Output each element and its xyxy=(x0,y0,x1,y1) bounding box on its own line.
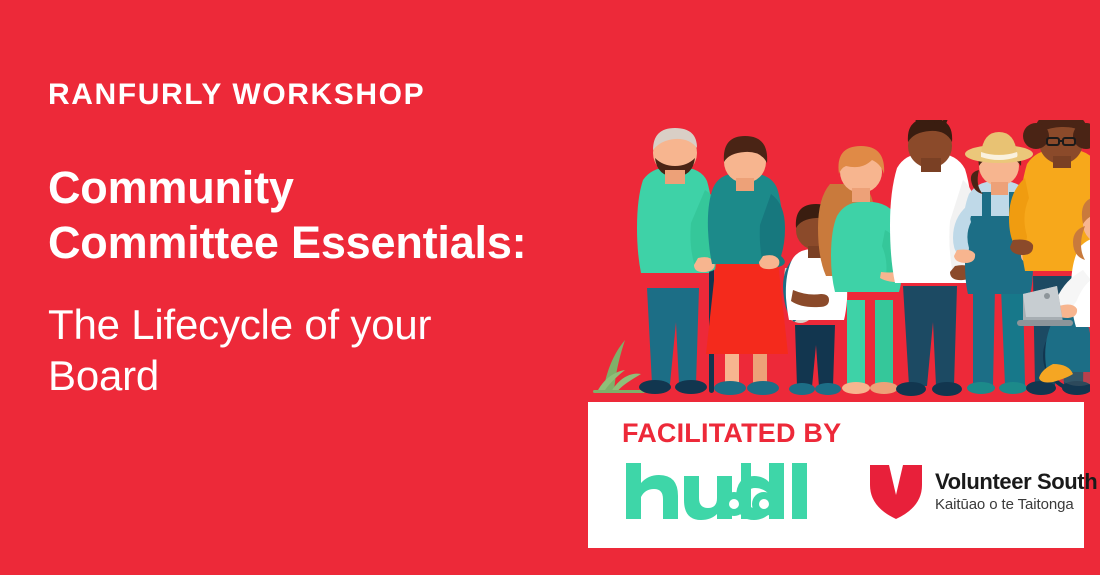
page-title: Community Committee Essentials: xyxy=(48,161,588,271)
poster-canvas: RANFURLY WORKSHOP Community Committee Es… xyxy=(0,0,1100,575)
page-subtitle-line-1: The Lifecycle of your xyxy=(48,299,588,350)
facilitated-by-card: FACILITATED BY xyxy=(588,402,1084,548)
volunteer-south-logo[interactable]: Volunteer South Kaitūao o te Taitonga xyxy=(868,463,1097,521)
volunteer-south-wordmark: Volunteer South Kaitūao o te Taitonga xyxy=(935,470,1097,513)
group-of-diverse-people-illustration xyxy=(585,120,1090,405)
page-subtitle: The Lifecycle of your Board xyxy=(48,299,588,401)
huddl-logo[interactable] xyxy=(622,461,810,523)
person-bearded-man-with-cane xyxy=(637,128,719,394)
page-title-line-1: Community xyxy=(48,161,588,216)
page-title-line-2: Committee Essentials: xyxy=(48,216,588,271)
person-woman-red-skirt xyxy=(706,136,788,395)
workshop-eyebrow: RANFURLY WORKSHOP xyxy=(48,78,588,111)
logo-row: Volunteer South Kaitūao o te Taitonga xyxy=(622,461,1084,523)
volunteer-south-shield-icon xyxy=(868,463,924,521)
volunteer-south-name: Volunteer South xyxy=(935,470,1097,493)
facilitated-by-label: FACILITATED BY xyxy=(622,420,1084,447)
text-column: RANFURLY WORKSHOP Community Committee Es… xyxy=(48,78,588,401)
volunteer-south-tagline: Kaitūao o te Taitonga xyxy=(935,496,1097,514)
plant-icon xyxy=(593,340,645,393)
page-subtitle-line-2: Board xyxy=(48,350,588,401)
